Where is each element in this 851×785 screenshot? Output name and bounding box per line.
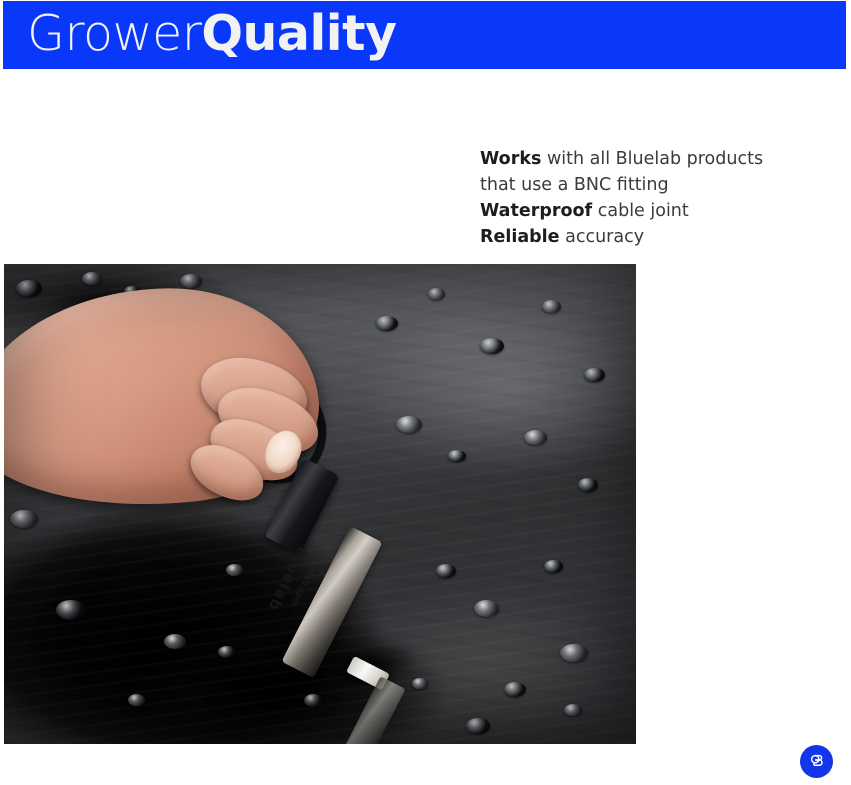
water-bubble: [128, 694, 145, 706]
water-bubble: [584, 368, 605, 382]
water-bubble: [564, 704, 582, 716]
water-bubble: [218, 646, 236, 658]
feature-item-reliable-bold: Reliable: [480, 227, 560, 247]
banner-title: GrowerQuality: [27, 8, 396, 58]
water-bubble: [396, 416, 422, 433]
water-bubble: [226, 564, 243, 576]
feature-item-waterproof-bold: Waterproof: [480, 201, 592, 221]
water-bubble: [428, 288, 445, 300]
bluelab-logo: [800, 745, 833, 778]
water-bubble: [180, 274, 202, 288]
water-bubble: [466, 718, 490, 734]
water-bubble: [474, 600, 499, 617]
page-banner: GrowerQuality: [3, 1, 846, 69]
water-bubble: [524, 430, 547, 445]
feature-item-reliable: Reliable accuracy: [480, 224, 800, 250]
water-bubble: [56, 600, 86, 620]
water-bubble: [436, 564, 456, 578]
feature-item-waterproof: Waterproof cable joint: [480, 198, 800, 224]
banner-title-bold: Quality: [201, 5, 396, 62]
feature-list: Works with all Bluelab products that use…: [480, 146, 800, 250]
water-bubble: [544, 560, 563, 573]
bluelab-mark-icon: [807, 752, 827, 772]
water-bubble: [376, 316, 398, 331]
water-bubble: [504, 682, 526, 697]
water-bubble: [82, 272, 102, 285]
water-bubble: [578, 478, 598, 492]
water-bubble: [480, 338, 504, 354]
water-bubble: [164, 634, 186, 649]
banner-title-light: Grower: [27, 5, 201, 62]
feature-item-works-bold: Works: [480, 149, 541, 169]
water-bubble: [560, 644, 588, 662]
feature-item-waterproof-rest: cable joint: [592, 201, 689, 221]
water-bubble: [16, 280, 42, 297]
water-bubble: [448, 450, 466, 462]
water-bubble: [10, 510, 38, 528]
product-photo: bluelab bluelab.com: [4, 264, 636, 744]
feature-item-reliable-rest: accuracy: [560, 227, 645, 247]
water-bubble: [542, 300, 561, 313]
feature-item-works: Works with all Bluelab products that use…: [480, 146, 800, 198]
